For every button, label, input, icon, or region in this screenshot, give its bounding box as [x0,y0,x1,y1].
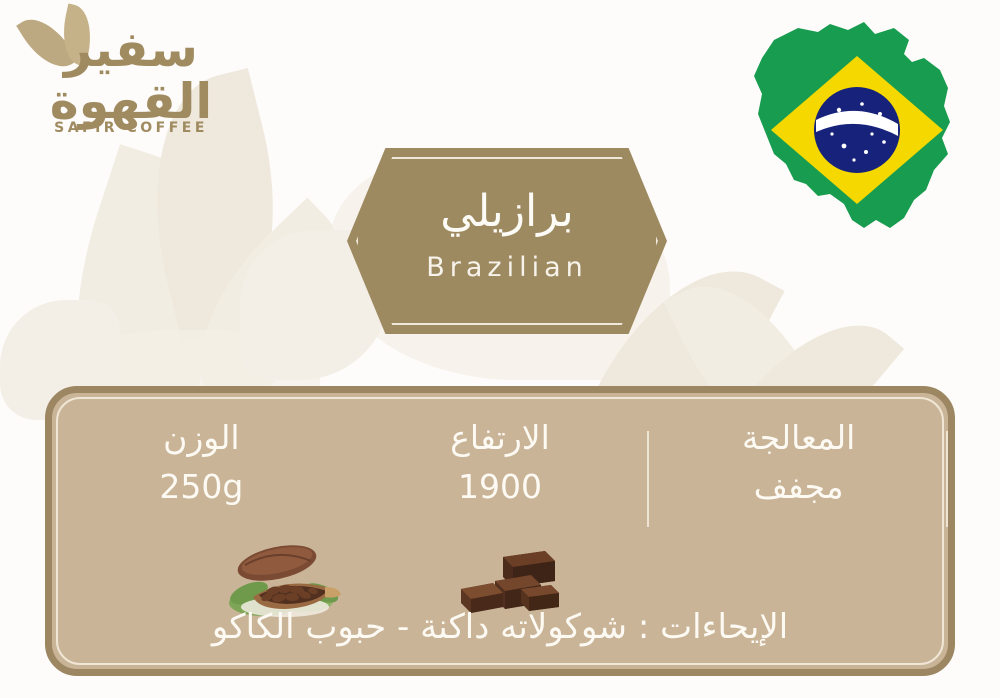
info-panel: الوزن 250g الارتفاع 1900 المعالجة مجفف [45,386,955,676]
spec-weight: الوزن 250g [52,415,351,555]
flavour-notes-text: الإيحاءات : شوكولاته داكنة - حبوب الكاكو [52,605,948,649]
spec-row: الوزن 250g الارتفاع 1900 المعالجة مجفف [52,415,948,555]
origin-name-arabic: برازيلي [347,188,667,236]
spec-weight-label: الوزن [163,415,239,461]
badge-inner-outline [356,157,658,325]
logo-arabic-wordmark: سفير القهوة [26,24,236,128]
spec-processing-value: مجفف [754,461,844,513]
spec-weight-value: 250g [159,461,243,513]
brand-logo: سفير القهوة SAFIR COFFEE [8,4,248,144]
spec-processing: المعالجة مجفف [649,415,948,555]
spec-altitude-value: 1900 [458,461,542,513]
coffee-product-label: سفير القهوة SAFIR COFFEE [0,0,1000,698]
logo-english-wordmark: SAFIR COFFEE [26,120,236,136]
spec-processing-label: المعالجة [742,415,855,461]
spec-altitude: الارتفاع 1900 [351,415,650,555]
origin-name-english: Brazilian [347,252,667,283]
spec-altitude-label: الارتفاع [450,415,550,461]
origin-name-badge: برازيلي Brazilian [347,148,667,334]
brazil-map-flag-icon [744,14,970,246]
